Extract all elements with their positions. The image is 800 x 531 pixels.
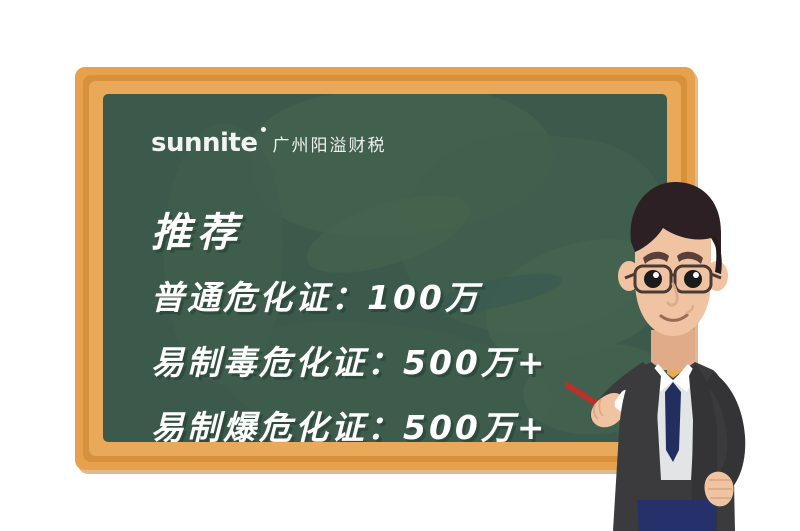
brand-wordmark-text: sunnite <box>151 128 257 158</box>
poster-canvas: sunnite 广州阳溢财税 推荐 普通危化证：100万 易制毒危化证：500万… <box>0 0 800 531</box>
list-item: 易制毒危化证：500万+ <box>151 336 548 384</box>
trousers <box>637 500 717 531</box>
brand-company-name: 广州阳溢财税 <box>266 137 386 156</box>
brand-registered-dot-icon <box>261 127 266 132</box>
eye-left-glint <box>653 272 659 278</box>
list-item: 易制爆危化证：500万+ <box>151 401 548 442</box>
list-item: 普通危化证：100万 <box>151 271 481 319</box>
brand-lockup: sunnite 广州阳溢财税 <box>151 130 386 156</box>
necktie <box>665 382 681 462</box>
eye-right <box>684 270 702 288</box>
teacher-character <box>565 180 800 531</box>
eye-left <box>644 270 662 288</box>
eye-right-glint <box>693 272 699 278</box>
brand-wordmark: sunnite <box>151 130 257 156</box>
pointer-stick-icon <box>565 346 597 404</box>
headline: 推荐 <box>151 200 243 258</box>
